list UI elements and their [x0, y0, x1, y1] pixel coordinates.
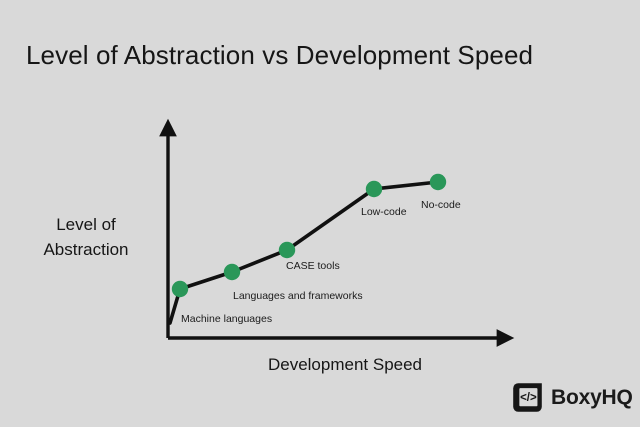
- data-point-3: [366, 181, 382, 197]
- data-point-4: [430, 174, 446, 190]
- data-point-0: [172, 281, 188, 297]
- data-point-2: [279, 242, 295, 258]
- code-brackets-glyph: </>: [520, 392, 537, 404]
- code-brackets-icon: </>: [511, 381, 544, 414]
- point-label-low-code: Low-code: [361, 206, 407, 218]
- brand-name: BoxyHQ: [551, 386, 633, 410]
- point-label-machine-languages: Machine languages: [181, 313, 272, 325]
- point-label-case-tools: CASE tools: [286, 260, 340, 272]
- point-label-languages-and-frameworks: Languages and frameworks: [233, 290, 363, 302]
- data-point-1: [224, 264, 240, 280]
- point-label-no-code: No-code: [421, 199, 461, 211]
- boxyhq-logo: </> BoxyHQ: [511, 381, 633, 414]
- line-chart-plot: [0, 0, 640, 427]
- slide-canvas: Level of Abstraction vs Development Spee…: [0, 0, 640, 427]
